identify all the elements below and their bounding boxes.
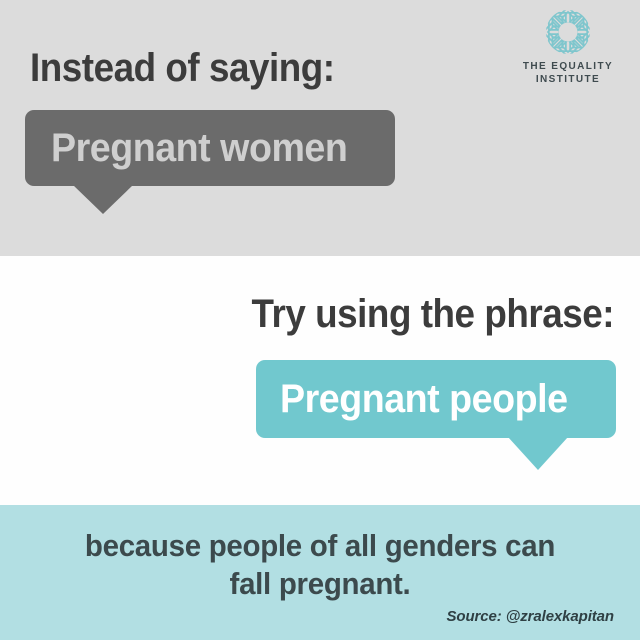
preferred-phrase-text: Pregnant people xyxy=(280,379,568,419)
caption-line-2: fall pregnant. xyxy=(43,565,598,603)
caption-line-1: because people of all genders can xyxy=(43,527,598,565)
source-credit: Source: @zralexkapitan xyxy=(447,608,615,625)
circular-chevron-burst-icon xyxy=(544,8,592,56)
try-using-the-phrase-headline: Try using the phrase: xyxy=(251,294,614,334)
avoid-phrase-text: Pregnant women xyxy=(51,128,347,168)
preferred-phrase-bubble-tail xyxy=(508,437,568,470)
explanation-caption: because people of all genders can fall p… xyxy=(0,527,640,604)
avoid-phrase-bubble-tail xyxy=(73,185,133,214)
avoid-phrase-bubble: Pregnant women xyxy=(25,110,395,186)
preferred-phrase-bubble: Pregnant people xyxy=(256,360,616,438)
logo-wordmark-line-1: THE EQUALITY xyxy=(512,60,624,73)
instead-of-saying-headline: Instead of saying: xyxy=(30,48,335,88)
infographic-poster: THE EQUALITY INSTITUTE Instead of saying… xyxy=(0,0,640,640)
equality-institute-logo: THE EQUALITY INSTITUTE xyxy=(512,8,624,86)
logo-wordmark-line-2: INSTITUTE xyxy=(512,73,624,86)
